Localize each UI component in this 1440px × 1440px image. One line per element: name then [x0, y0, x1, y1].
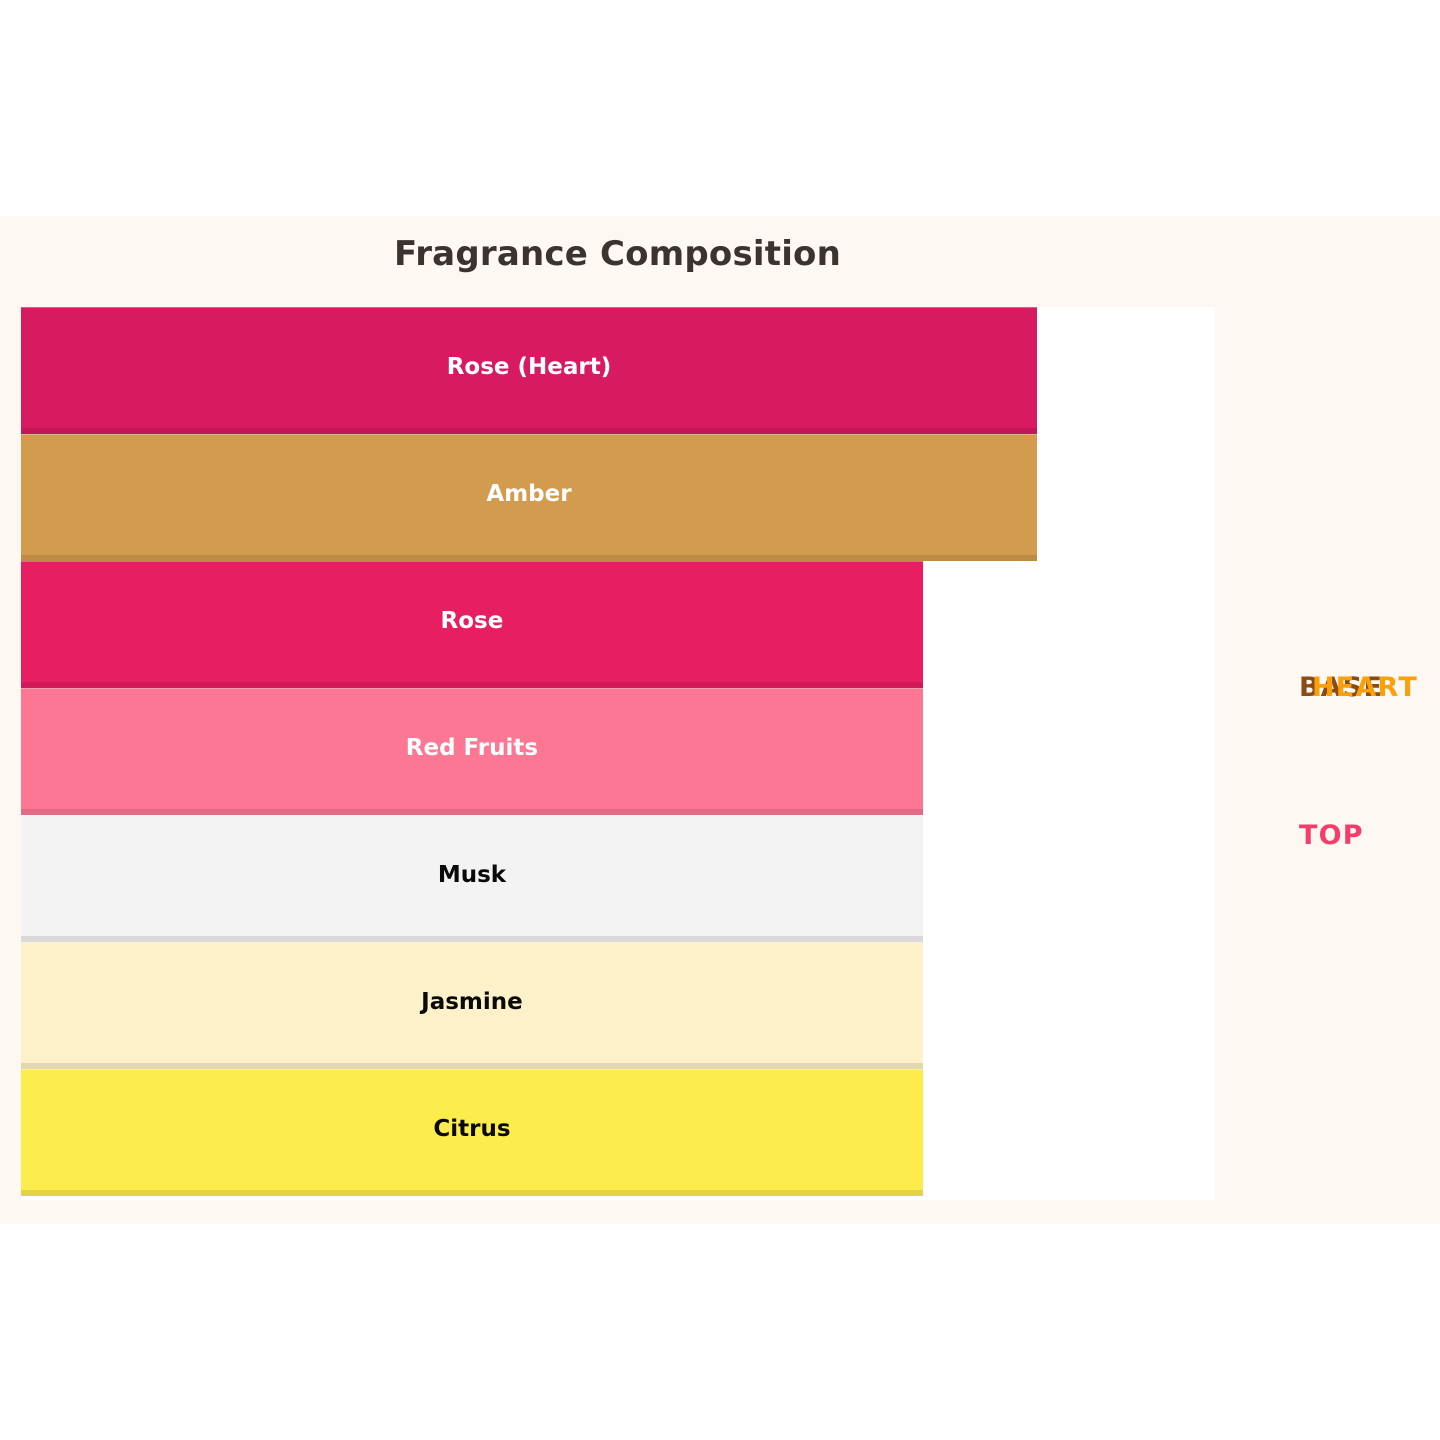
plot-area: Rose (Heart)AmberRoseRed FruitsMuskJasmi…: [21, 307, 1215, 1200]
bar-musk[interactable]: [21, 815, 923, 942]
bar-rose[interactable]: [21, 561, 923, 688]
bar-red-fruits[interactable]: [21, 688, 923, 815]
bar-citrus[interactable]: [21, 1069, 923, 1196]
bar-row: Citrus: [21, 1069, 1215, 1196]
page-title: Fragrance Composition: [0, 234, 1235, 274]
bar-row: Rose: [21, 561, 1215, 688]
bar-amber[interactable]: [21, 434, 1037, 561]
bar-row: Musk: [21, 815, 1215, 942]
bar-row: Rose (Heart): [21, 307, 1215, 434]
bar-row: Amber: [21, 434, 1215, 561]
bar-row: Red Fruits: [21, 688, 1215, 815]
bar-jasmine[interactable]: [21, 942, 923, 1069]
note-annotation-heart: HEART: [1312, 672, 1418, 703]
chart-figure: Fragrance Composition Rose (Heart)AmberR…: [0, 216, 1440, 1224]
note-annotation-top: TOP: [1299, 820, 1364, 851]
bar-rose-heart[interactable]: [21, 307, 1037, 434]
bar-row: Jasmine: [21, 942, 1215, 1069]
